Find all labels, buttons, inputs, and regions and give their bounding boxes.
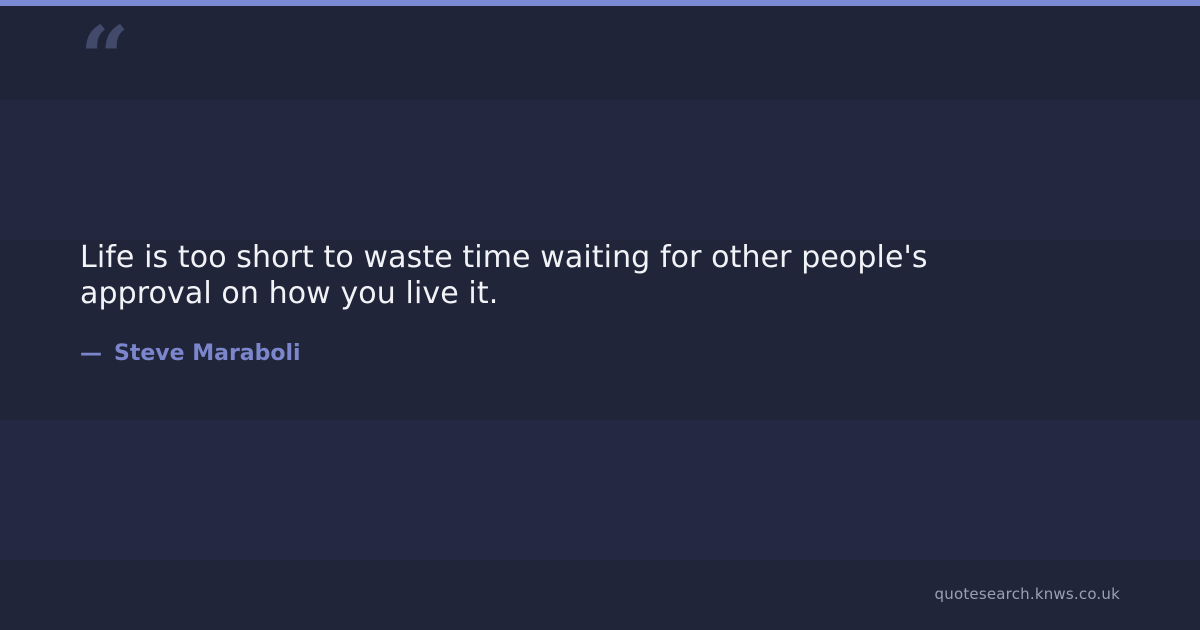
quote-attribution: —Steve Maraboli [80, 312, 1120, 368]
top-accent-bar [0, 0, 1200, 6]
quote-content: Life is too short to waste time waiting … [80, 240, 1120, 368]
em-dash: — [80, 340, 114, 368]
site-watermark: quotesearch.knws.co.uk [935, 584, 1120, 604]
quote-text: Life is too short to waste time waiting … [80, 240, 990, 312]
quotation-mark-icon: “ [80, 16, 129, 102]
quote-card: “ Life is too short to waste time waitin… [0, 0, 1200, 630]
author-name: Steve Maraboli [114, 341, 301, 366]
